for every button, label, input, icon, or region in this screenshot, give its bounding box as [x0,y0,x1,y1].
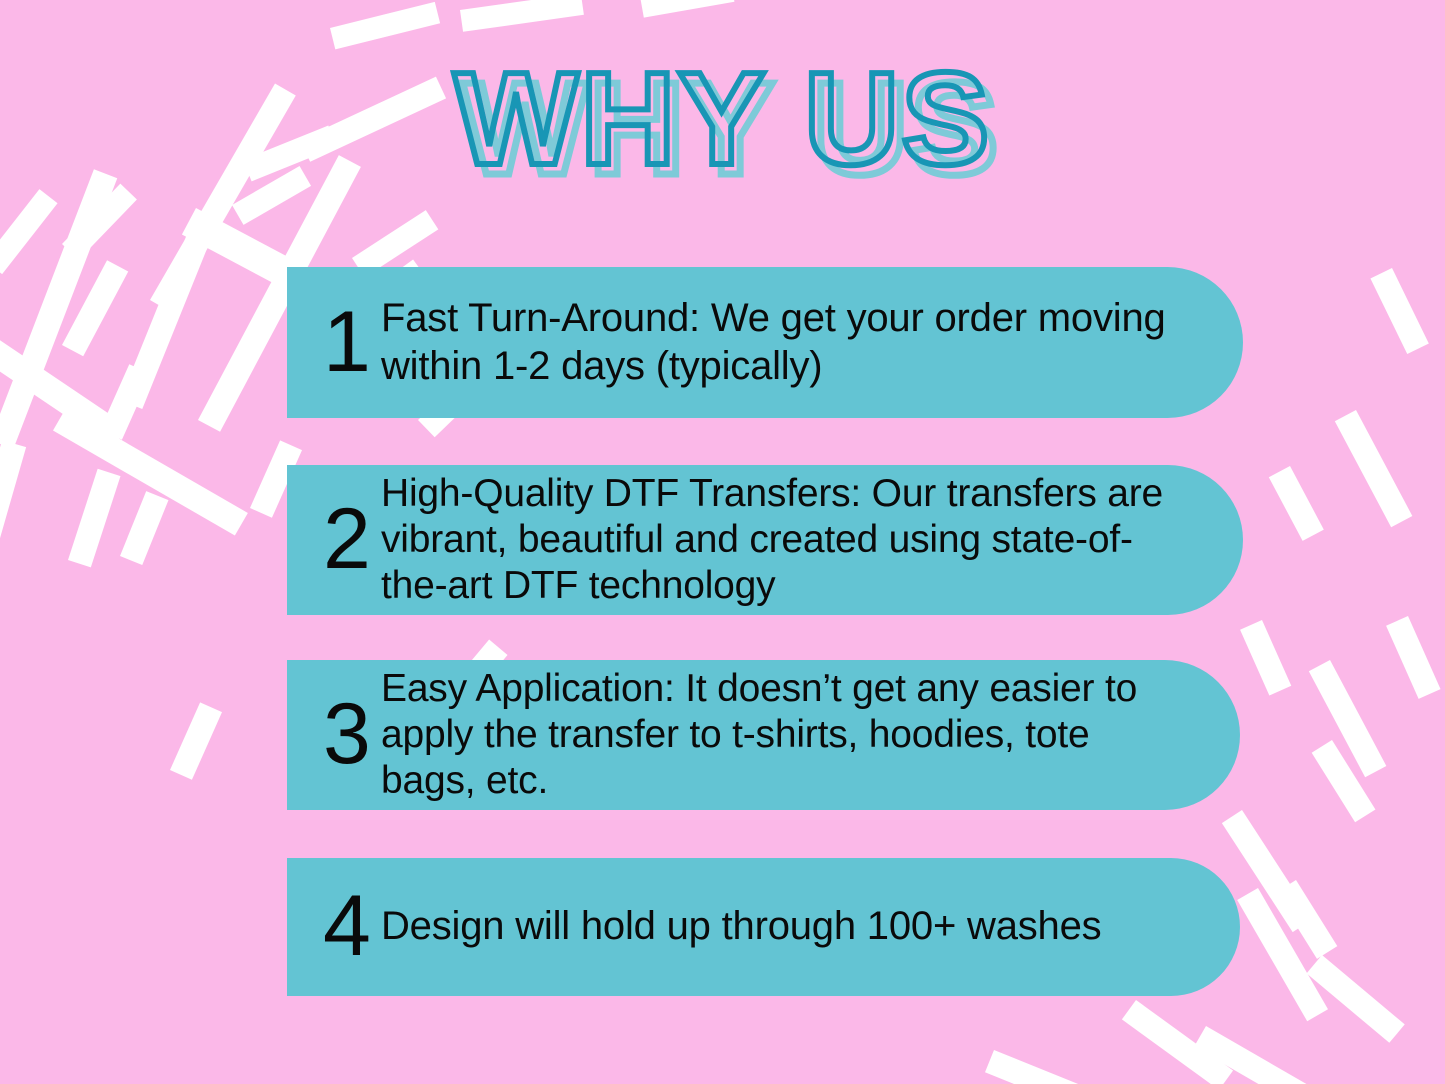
benefit-text-4: Design will hold up through 100+ washes [381,903,1170,950]
benefit-text-3: Easy Application: It doesn’t get any eas… [381,666,1170,804]
benefit-text-1: Fast Turn-Around: We get your order movi… [381,295,1173,389]
benefit-list: 1 Fast Turn-Around: We get your order mo… [287,267,1247,996]
benefit-text-2: High-Quality DTF Transfers: Our transfer… [381,471,1173,609]
benefit-number-2: 2 [323,501,381,578]
benefit-item-1: 1 Fast Turn-Around: We get your order mo… [287,267,1243,418]
why-us-poster: WHY US WHY US 1 Fast Turn-Around: We get… [0,0,1445,1084]
benefit-number-1: 1 [323,304,381,381]
benefit-item-4: 4 Design will hold up through 100+ washe… [287,858,1240,996]
benefit-item-2: 2 High-Quality DTF Transfers: Our transf… [287,465,1243,615]
page-title: WHY US WHY US [0,44,1445,194]
benefit-number-4: 4 [323,888,381,965]
benefit-number-3: 3 [323,696,381,773]
page-title-text: WHY US [0,44,1445,194]
benefit-item-3: 3 Easy Application: It doesn’t get any e… [287,660,1240,810]
